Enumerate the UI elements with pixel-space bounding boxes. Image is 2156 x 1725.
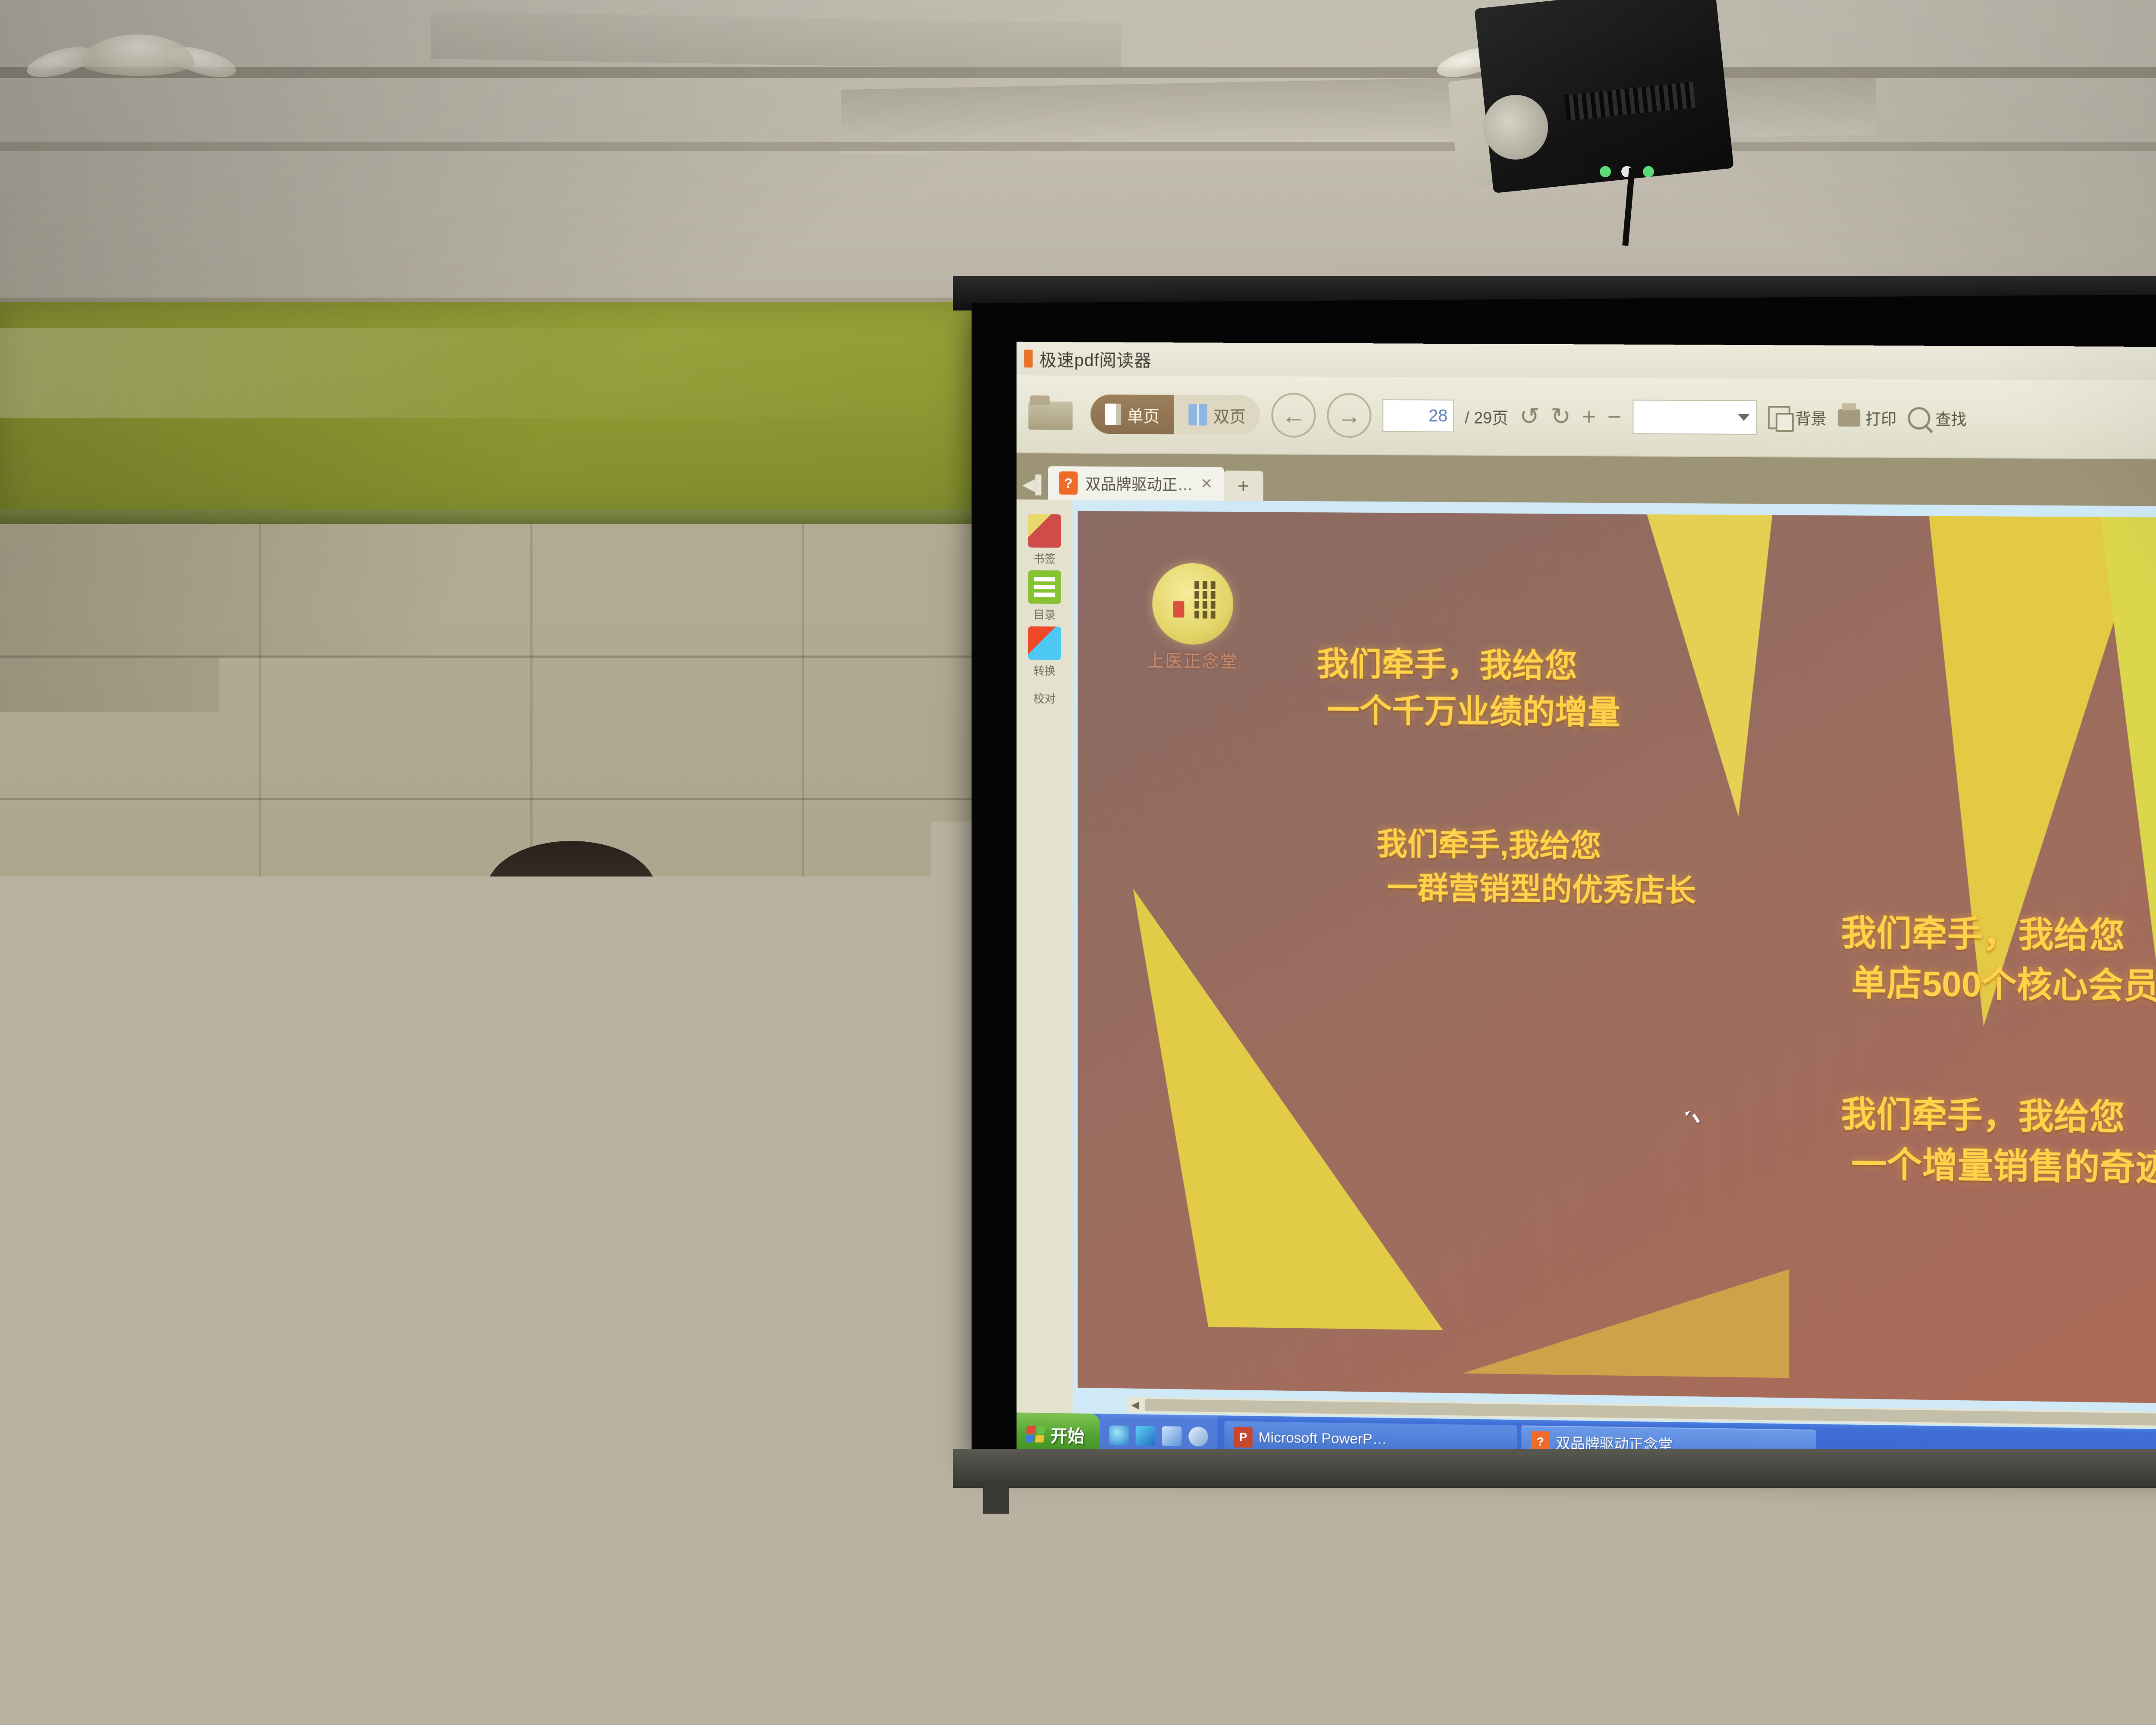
qq-icon[interactable] xyxy=(1188,1427,1208,1446)
ray-bottom-center xyxy=(1462,1219,1789,1378)
ie-icon[interactable] xyxy=(1109,1425,1128,1445)
desktop-icon[interactable] xyxy=(1162,1426,1181,1446)
zoom-out-icon[interactable]: − xyxy=(1608,405,1622,429)
double-page-icon xyxy=(1188,404,1207,426)
new-tab-button[interactable]: + xyxy=(1224,470,1263,501)
presenter-pants xyxy=(407,1518,735,1725)
audience-head xyxy=(259,1591,388,1725)
sidebar-item-outline[interactable]: 目录 xyxy=(1028,570,1061,622)
presenter xyxy=(328,845,819,1725)
window-title: 极速pdf阅读器 xyxy=(1040,346,1152,372)
sidebar-label-bookmarks: 书签 xyxy=(1034,550,1056,566)
page-total-label: / 29页 xyxy=(1465,404,1508,428)
double-page-button[interactable]: 双页 xyxy=(1174,395,1260,435)
single-page-icon xyxy=(1105,404,1122,425)
chandelier-left xyxy=(26,34,250,99)
ray-top-left xyxy=(1647,514,1888,818)
view-mode-segmented: 单页 双页 xyxy=(1091,395,1260,435)
brand-logo: 上医正念堂 xyxy=(1142,563,1244,662)
background-button[interactable]: 背景 xyxy=(1768,406,1827,430)
media-icon[interactable] xyxy=(1136,1426,1155,1446)
slide-text-2-line1: 我们牵手,我给您 xyxy=(1376,822,1696,869)
presentation-slide: 上医正念堂 我们牵手，我给您 一个千万业绩的增量 我们牵手,我给您 一群营销型的… xyxy=(1078,511,2156,1408)
background-label: 背景 xyxy=(1796,407,1827,429)
slide-text-1-line2: 一个千万业绩的增量 xyxy=(1316,687,1620,736)
logo-seal-stamp xyxy=(1173,601,1185,618)
slide-text-2-line2: 一群营销型的优秀店长 xyxy=(1376,866,1696,913)
slide-text-3-line1: 我们牵手，我给您 xyxy=(1841,908,2156,962)
slide-text-block-3: 我们牵手，我给您 单店500个核心会员 xyxy=(1841,908,2156,1012)
audience-head xyxy=(47,1535,190,1690)
tab-label: 双品牌驱动正… xyxy=(1085,472,1193,495)
arrow-right-icon: → xyxy=(1337,401,1361,430)
sidebar-toggle-icon[interactable]: ◀▌ xyxy=(1022,470,1048,500)
slide-viewport[interactable]: 上医正念堂 我们牵手，我给您 一个千万业绩的增量 我们牵手,我给您 一群营销型的… xyxy=(1073,500,2156,1434)
print-label: 打印 xyxy=(1865,407,1896,429)
logo-text: 上医正念堂 xyxy=(1142,647,1244,672)
audience-head xyxy=(785,1570,927,1721)
ceiling-beam-upper xyxy=(0,67,2156,78)
sidebar-item-bookmarks[interactable]: 书签 xyxy=(1028,514,1061,566)
slide-text-4-line1: 我们牵手，我给您 xyxy=(1841,1089,2156,1144)
mouse-cursor xyxy=(1685,1110,1692,1116)
slide-text-1-line1: 我们牵手，我给您 xyxy=(1316,641,1620,690)
ray-bottom-left xyxy=(1133,888,1552,1331)
zoom-level-select[interactable] xyxy=(1633,400,1757,435)
page-number-input[interactable]: 28 xyxy=(1382,399,1454,433)
chevron-down-icon xyxy=(1738,414,1750,421)
tab-document[interactable]: ? 双品牌驱动正… ✕ xyxy=(1048,466,1224,501)
folder-open-icon[interactable] xyxy=(1028,395,1075,433)
app-icon xyxy=(1024,350,1033,368)
tab-bar: ◀▌ ? 双品牌驱动正… ✕ + xyxy=(1016,453,2156,508)
windows-flag-icon xyxy=(1025,1426,1046,1443)
presenter-hair xyxy=(486,841,656,940)
single-page-label: 单页 xyxy=(1127,402,1159,426)
sidebar-item-proof[interactable]: 校对 xyxy=(1034,690,1056,706)
arrow-left-icon: ← xyxy=(1282,401,1306,429)
rotate-cw-icon[interactable]: ↻ xyxy=(1551,405,1571,429)
page-number-value: 28 xyxy=(1429,406,1448,426)
sidebar-label-proof: 校对 xyxy=(1034,690,1056,706)
chalkboard-glare xyxy=(0,328,1005,418)
ceiling-beam-lower xyxy=(0,142,2156,151)
background-icon xyxy=(1768,406,1790,429)
pdf-sidebar: 书签 目录 转换 校对 xyxy=(1016,499,1072,1413)
printer-icon xyxy=(1838,409,1860,427)
double-page-label: 双页 xyxy=(1213,403,1246,427)
eyeglasses-icon xyxy=(499,930,642,955)
logo-seal-icon xyxy=(1152,563,1233,645)
print-button[interactable]: 打印 xyxy=(1838,407,1896,430)
projected-desktop: 极速pdf阅读器 ▾ — ❐ ✕ 单页 xyxy=(1016,342,2156,1477)
convert-icon xyxy=(1028,626,1061,660)
ceiling-projector xyxy=(1457,0,1759,237)
powerpoint-icon: P xyxy=(1234,1427,1253,1448)
slide-text-3-line2: 单店500个核心会员 xyxy=(1841,959,2156,1012)
screen-bottom-bar xyxy=(953,1449,2156,1488)
pdf-body: 书签 目录 转换 校对 xyxy=(1016,499,2156,1434)
projector-lens xyxy=(1483,95,1548,160)
start-label: 开始 xyxy=(1050,1422,1084,1447)
sidebar-item-convert[interactable]: 转换 xyxy=(1028,626,1061,678)
slide-text-4-line2: 一个增量销售的奇迹 xyxy=(1841,1140,2156,1194)
pdf-file-icon: ? xyxy=(1059,471,1078,495)
bookmark-icon xyxy=(1028,514,1061,548)
sidebar-label-outline: 目录 xyxy=(1034,606,1056,622)
logo-seal-characters xyxy=(1194,581,1215,618)
window-titlebar: 极速pdf阅读器 ▾ — ❐ ✕ xyxy=(1016,342,2156,382)
outline-list-icon xyxy=(1028,570,1061,604)
slide-text-block-4: 我们牵手，我给您 一个增量销售的奇迹 xyxy=(1841,1089,2156,1194)
single-page-button[interactable]: 单页 xyxy=(1091,395,1174,434)
taskbar-label-powerpoint: Microsoft PowerP… xyxy=(1259,1429,1387,1448)
zoom-in-icon[interactable]: + xyxy=(1582,405,1596,429)
find-label: 查找 xyxy=(1935,407,1966,430)
previous-page-button[interactable]: ← xyxy=(1271,393,1316,438)
pdf-reader-window: 极速pdf阅读器 ▾ — ❐ ✕ 单页 xyxy=(1016,342,2156,1477)
search-icon xyxy=(1908,407,1930,430)
slide-text-block-1: 我们牵手，我给您 一个千万业绩的增量 xyxy=(1316,641,1620,737)
next-page-button[interactable]: → xyxy=(1327,393,1371,438)
scroll-left-arrow-icon[interactable]: ◀ xyxy=(1128,1399,1143,1411)
slide-text-block-2: 我们牵手,我给您 一群营销型的优秀店长 xyxy=(1376,822,1696,913)
sidebar-label-convert: 转换 xyxy=(1034,662,1056,678)
tab-close-icon[interactable]: ✕ xyxy=(1200,475,1213,492)
find-button[interactable]: 查找 xyxy=(1908,407,1966,430)
rotate-ccw-icon[interactable]: ↺ xyxy=(1520,404,1540,428)
pdf-toolbar: 单页 双页 ← → 28 / 29页 ↺ ↻ xyxy=(1016,375,2156,461)
lecture-room-photo: 极速pdf阅读器 ▾ — ❐ ✕ 单页 xyxy=(0,0,2156,1725)
